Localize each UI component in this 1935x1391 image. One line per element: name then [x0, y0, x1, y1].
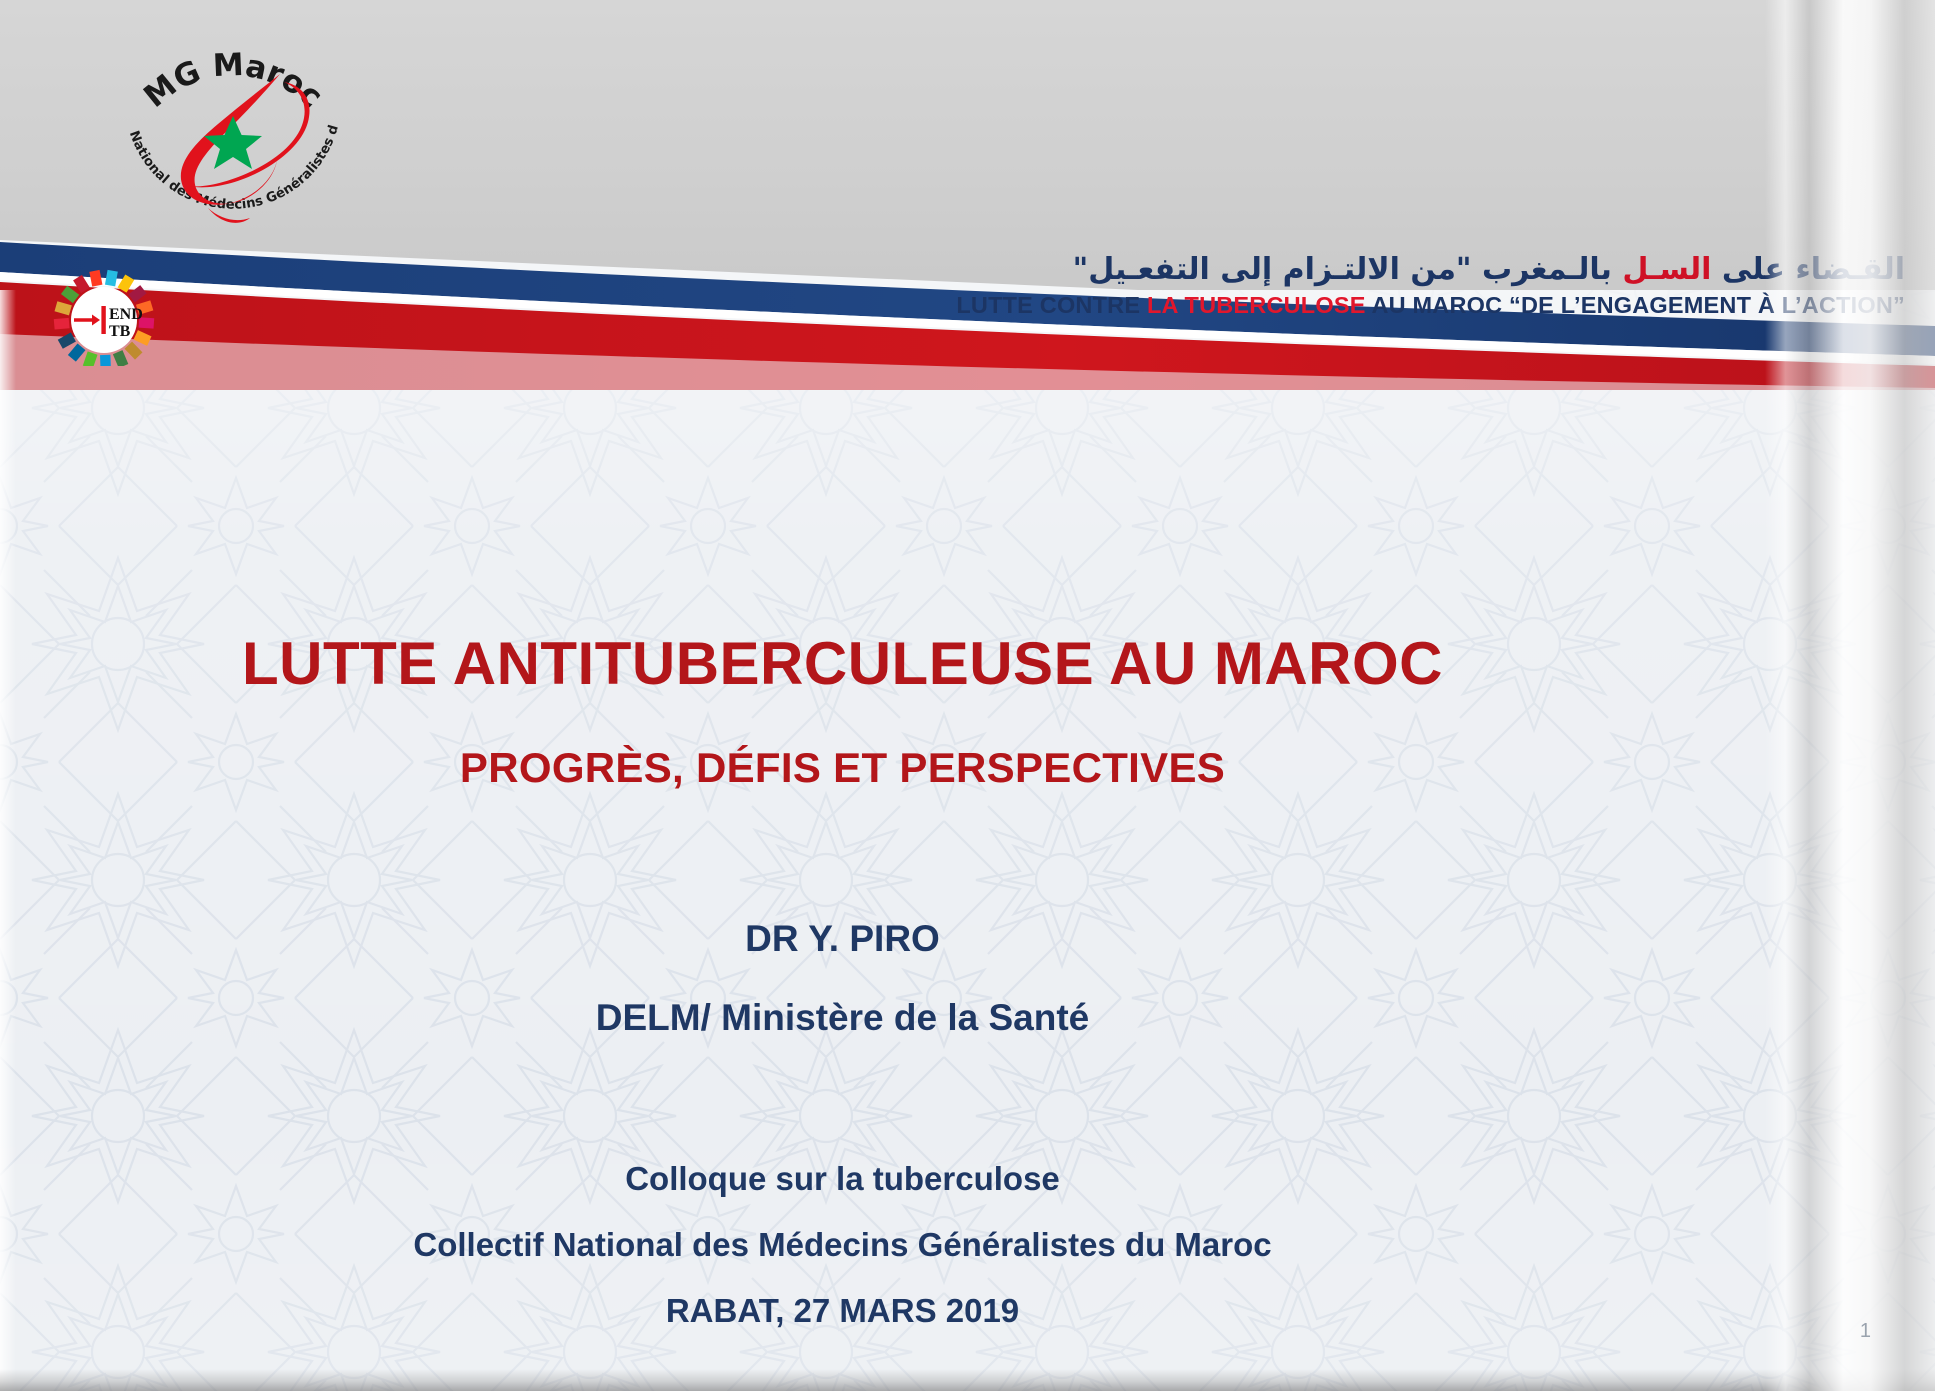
event-title: Colloque sur la tuberculose [0, 1160, 1685, 1198]
banner-arabic-highlight: السـل [1612, 252, 1712, 287]
mg-logo-top-text: MG Maroc [137, 47, 329, 115]
banner-arabic-part-1: القـضاء على [1711, 252, 1905, 287]
presentation-slide: END TB MG Maroc Collectif National des M… [0, 0, 1935, 1391]
page-number: 1 [1860, 1320, 1871, 1343]
presenter-affiliation: DELM/ Ministère de la Santé [0, 997, 1685, 1039]
banner-french-part-1: LUTTE CONTRE [956, 292, 1147, 318]
end-tb-sdg-badge: END TB [26, 258, 182, 366]
event-location-date: RABAT, 27 MARS 2019 [0, 1292, 1685, 1330]
slide-title: LUTTE ANTITUBERCULEUSE AU MAROC [0, 629, 1685, 698]
presenter-name: DR Y. PIRO [0, 918, 1685, 960]
event-organizer: Collectif National des Médecins Générali… [0, 1226, 1685, 1264]
banner-french-highlight: LA TUBERCULOSE [1147, 292, 1372, 318]
mg-logo-star [204, 116, 262, 169]
banner-slogan-french: LUTTE CONTRE LA TUBERCULOSE AU MAROC “DE… [705, 292, 1905, 319]
svg-text:TB: TB [109, 323, 131, 340]
slide-subtitle: PROGRÈS, DÉFIS ET PERSPECTIVES [0, 744, 1685, 792]
banner-slogan-arabic: القـضاء على السـل بالـمغرب "من الالتـزام… [905, 252, 1905, 287]
banner-arabic-part-3: بالـمغرب "من الالتـزام إلى التفعـيل" [1073, 252, 1612, 287]
mg-maroc-logo: MG Maroc Collectif National des Médecins… [108, 22, 358, 247]
svg-text:END: END [109, 306, 143, 323]
banner-french-part-3: AU MAROC “DE L’ENGAGEMENT À L’ACTION” [1371, 292, 1905, 318]
